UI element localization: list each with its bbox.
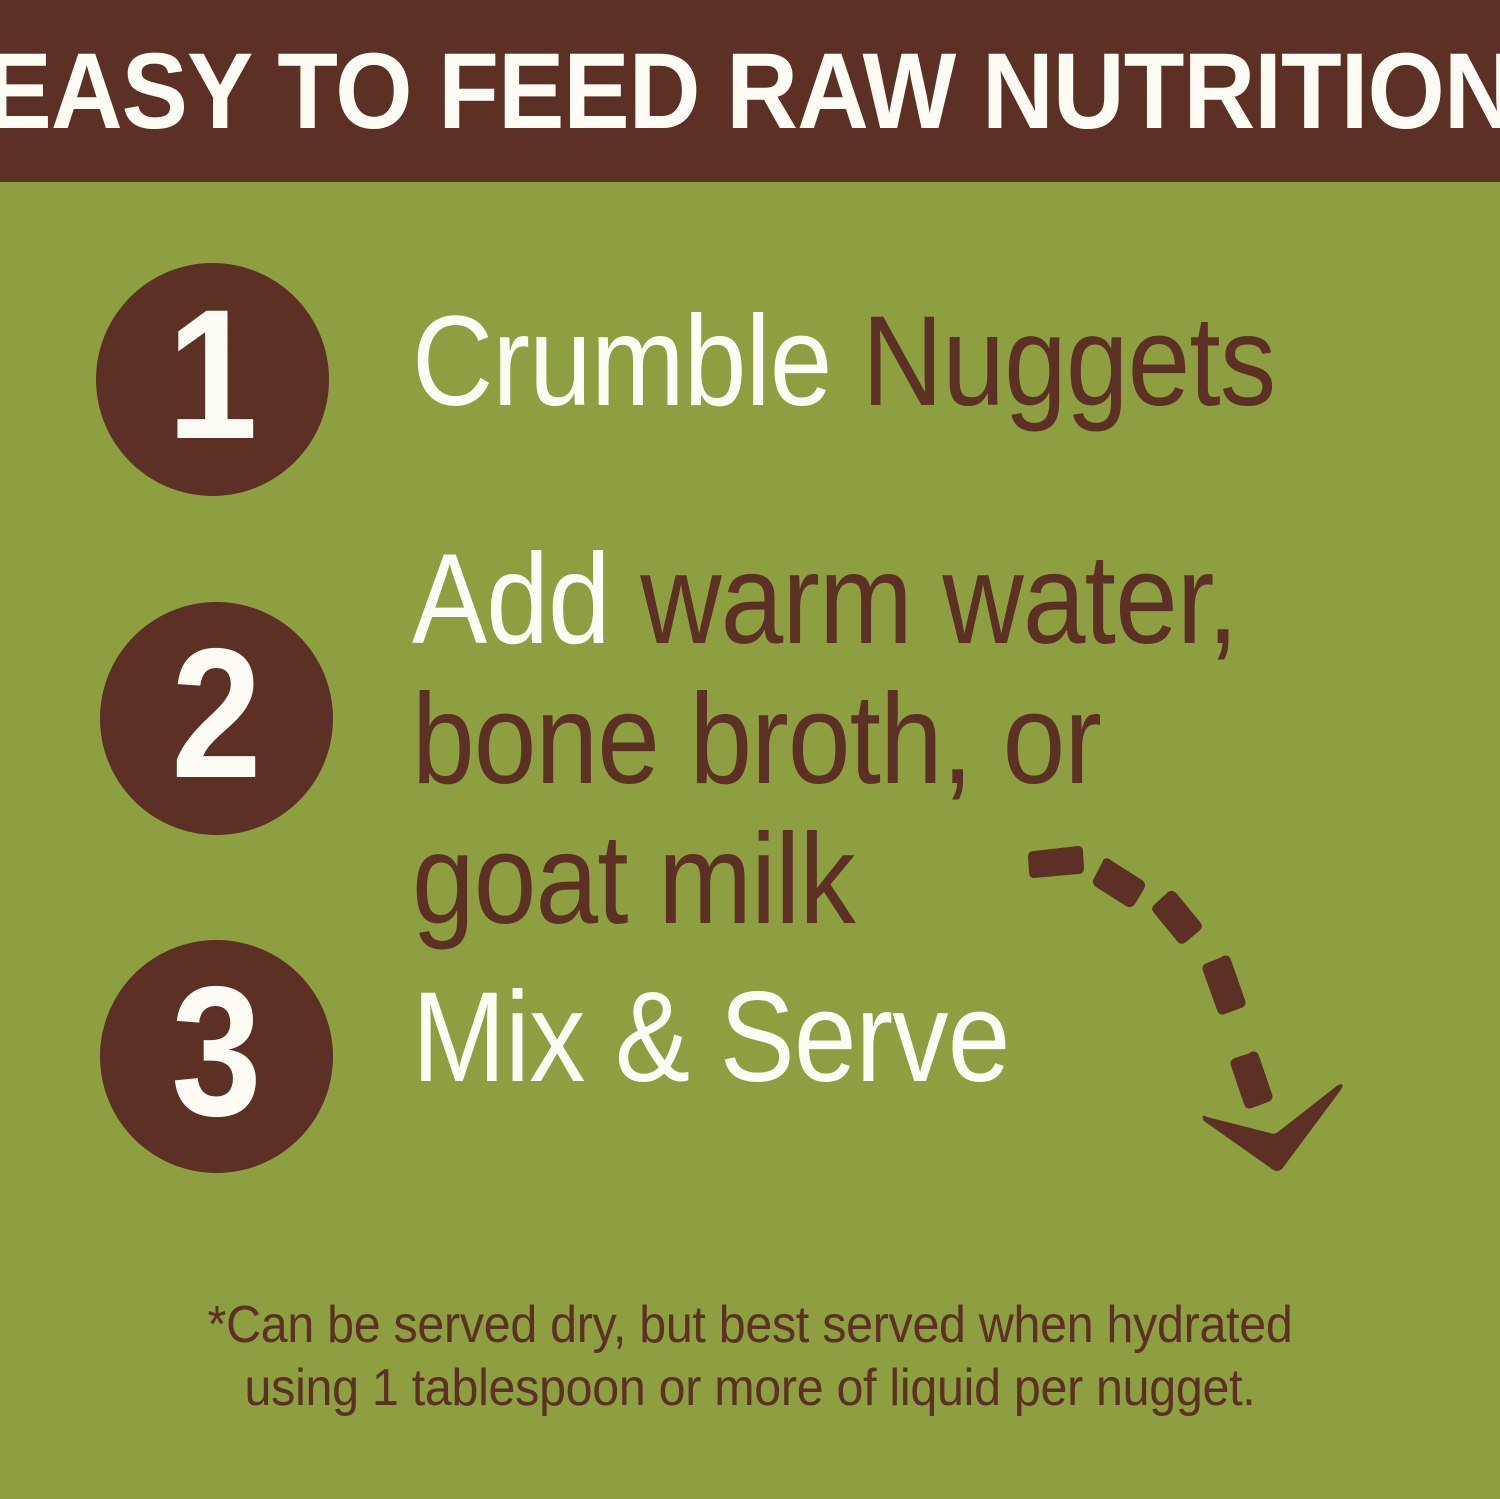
step-2-number: 2 — [171, 622, 262, 807]
footnote: *Can be served dry, but best served when… — [0, 1294, 1500, 1420]
step-1-text: Crumble Nuggets — [412, 292, 1275, 432]
footnote-line-1: *Can be served dry, but best served when… — [53, 1294, 1448, 1357]
page-title: EASY TO FEED RAW NUTRITION — [0, 37, 1500, 145]
step-1-text-highlight: Crumble — [412, 290, 862, 433]
step-3-text-highlight: Mix & Serve — [412, 966, 1009, 1109]
step-2-text-rest: warm water, — [640, 528, 1237, 671]
step-2-text-line-1: Add warm water, — [412, 530, 1238, 670]
instructions-panel: 1 Crumble Nuggets 2 Add warm water, bone… — [0, 182, 1500, 1499]
step-3-number: 3 — [171, 960, 262, 1145]
step-2-text-line-2: bone broth, or — [412, 670, 1238, 810]
step-1-badge: 1 — [96, 263, 329, 496]
header-banner: EASY TO FEED RAW NUTRITION — [0, 0, 1500, 182]
step-3-text: Mix & Serve — [412, 968, 1009, 1108]
step-2-text: Add warm water, bone broth, or goat milk — [412, 530, 1238, 950]
step-2-badge: 2 — [100, 602, 333, 835]
step-3-badge: 3 — [100, 940, 333, 1173]
footnote-line-2: using 1 tablespoon or more of liquid per… — [53, 1357, 1448, 1420]
step-2-text-line-3: goat milk — [412, 810, 1238, 950]
step-1-text-rest: Nuggets — [862, 290, 1275, 433]
step-2-text-highlight: Add — [412, 528, 640, 671]
step-1-number: 1 — [167, 283, 258, 468]
